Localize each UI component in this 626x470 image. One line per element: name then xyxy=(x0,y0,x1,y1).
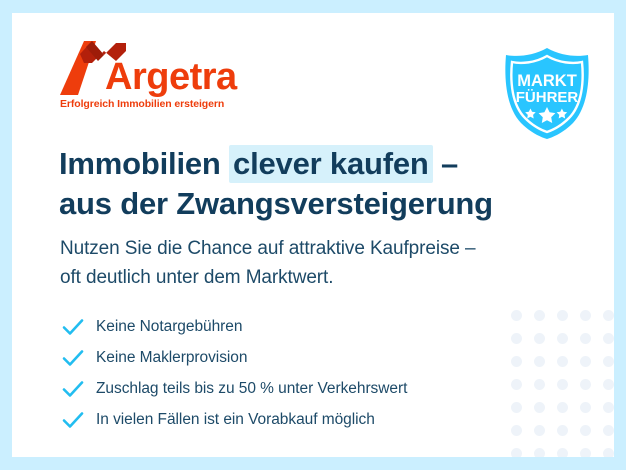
dot xyxy=(603,425,614,436)
dot xyxy=(580,448,591,457)
headline-line1-prefix: Immobilien xyxy=(59,146,229,181)
dot xyxy=(603,402,614,413)
list-item: In vielen Fällen ist ein Vorabkauf mögli… xyxy=(62,404,532,435)
subtitle: Nutzen Sie die Chance auf attraktive Kau… xyxy=(60,235,560,292)
list-item-label: Zuschlag teils bis zu 50 % unter Verkehr… xyxy=(88,380,407,398)
list-item-label: Keine Maklerprovision xyxy=(88,349,247,367)
dot xyxy=(511,448,522,457)
dot xyxy=(557,379,568,390)
promo-banner: Argetra Erfolgreich Immobilien ersteiger… xyxy=(0,0,626,470)
dot xyxy=(603,310,614,321)
dot xyxy=(580,310,591,321)
argetra-wordmark: Argetra xyxy=(105,58,237,96)
dot xyxy=(557,310,568,321)
list-item: Zuschlag teils bis zu 50 % unter Verkehr… xyxy=(62,373,532,404)
argetra-logo[interactable]: Argetra Erfolgreich Immobilien ersteiger… xyxy=(58,41,238,119)
marktfuehrer-badge: MARKT FÜHRER xyxy=(499,45,595,141)
dot xyxy=(603,356,614,367)
badge-line1: MARKT xyxy=(517,72,577,90)
dot xyxy=(557,333,568,344)
dot xyxy=(557,448,568,457)
list-item: Keine Notargebühren xyxy=(62,311,532,342)
checkmark-icon xyxy=(62,379,88,399)
dot xyxy=(557,356,568,367)
dot xyxy=(580,333,591,344)
badge-line2: FÜHRER xyxy=(516,89,579,106)
dot xyxy=(557,425,568,436)
subtitle-line1: Nutzen Sie die Chance auf attraktive Kau… xyxy=(60,238,475,259)
dot xyxy=(603,333,614,344)
dot xyxy=(580,379,591,390)
subtitle-line2: oft deutlich unter dem Marktwert. xyxy=(60,267,333,288)
dot xyxy=(534,356,545,367)
checkmark-icon xyxy=(62,410,88,430)
benefits-list: Keine NotargebührenKeine Maklerprovision… xyxy=(62,311,532,435)
argetra-tagline: Erfolgreich Immobilien ersteigern xyxy=(60,98,224,110)
dot xyxy=(534,448,545,457)
list-item-label: In vielen Fällen ist ein Vorabkauf mögli… xyxy=(88,411,375,429)
dot xyxy=(534,310,545,321)
checkmark-icon xyxy=(62,348,88,368)
page-title: Immobilien clever kaufen – aus der Zwang… xyxy=(59,144,559,223)
dot xyxy=(580,356,591,367)
dot xyxy=(534,425,545,436)
dot xyxy=(557,402,568,413)
dot xyxy=(534,402,545,413)
headline-highlight: clever kaufen xyxy=(229,145,433,183)
list-item-label: Keine Notargebühren xyxy=(88,318,242,336)
headline-line2: aus der Zwangsversteigerung xyxy=(59,186,493,221)
dot xyxy=(534,333,545,344)
dot xyxy=(580,402,591,413)
list-item: Keine Maklerprovision xyxy=(62,342,532,373)
dot xyxy=(580,425,591,436)
headline-line1-suffix: – xyxy=(433,146,458,181)
checkmark-icon xyxy=(62,317,88,337)
dot xyxy=(534,379,545,390)
banner-card: Argetra Erfolgreich Immobilien ersteiger… xyxy=(12,13,614,457)
dot xyxy=(603,379,614,390)
dot xyxy=(603,448,614,457)
